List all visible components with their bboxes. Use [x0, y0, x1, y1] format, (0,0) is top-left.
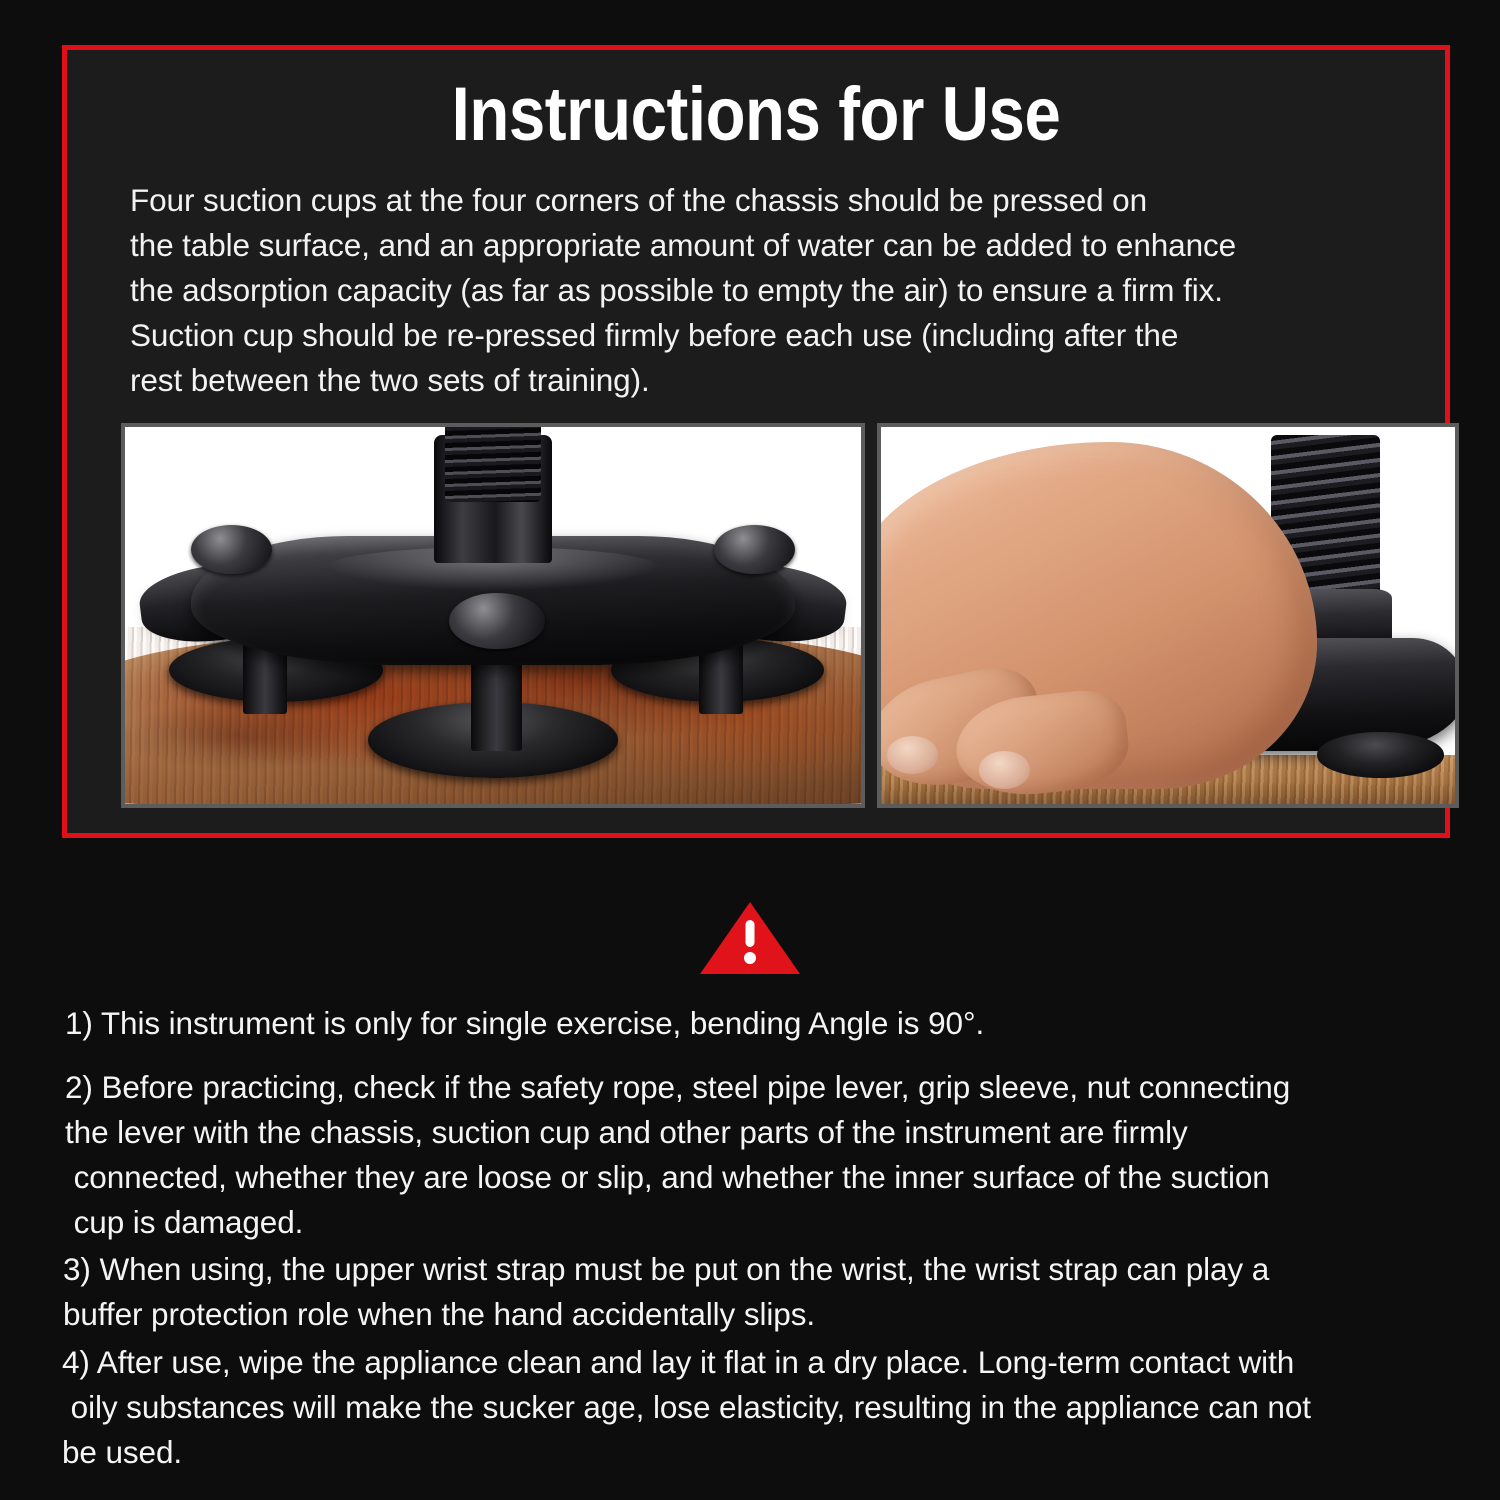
fingernail-middle	[979, 751, 1031, 789]
warning-triangle-icon	[696, 898, 804, 978]
instruction-sheet: Instructions for Use Four suction cups a…	[0, 0, 1500, 1500]
notes-list: 1) This instrument is only for single ex…	[0, 995, 1500, 1500]
chassis-knob-front	[449, 593, 545, 650]
warning-row	[0, 898, 1500, 978]
photo-right-scene	[881, 427, 1455, 804]
intro-paragraph: Four suction cups at the four corners of…	[130, 178, 1460, 403]
suction-cup-side	[1317, 732, 1443, 777]
photo-suction-cup-chassis-on-wet-table	[121, 423, 865, 808]
photo-strip	[121, 423, 1459, 808]
note-item-3: 3) When using, the upper wrist strap mus…	[63, 1247, 1269, 1337]
spring-coil	[445, 427, 541, 502]
photo-hand-pressing-chassis	[877, 423, 1459, 808]
chassis-knob-left	[191, 525, 272, 574]
page-title: Instructions for Use	[163, 77, 1348, 153]
chassis-knob-right	[714, 525, 795, 574]
note-item-1: 1) This instrument is only for single ex…	[65, 1001, 984, 1046]
note-item-4: 4) After use, wipe the appliance clean a…	[62, 1340, 1311, 1475]
instructions-panel: Instructions for Use Four suction cups a…	[62, 45, 1450, 838]
cup-stem-center	[471, 661, 523, 751]
photo-left-scene	[125, 427, 861, 804]
fingernail-index	[887, 736, 939, 774]
note-item-2: 2) Before practicing, check if the safet…	[65, 1065, 1290, 1245]
